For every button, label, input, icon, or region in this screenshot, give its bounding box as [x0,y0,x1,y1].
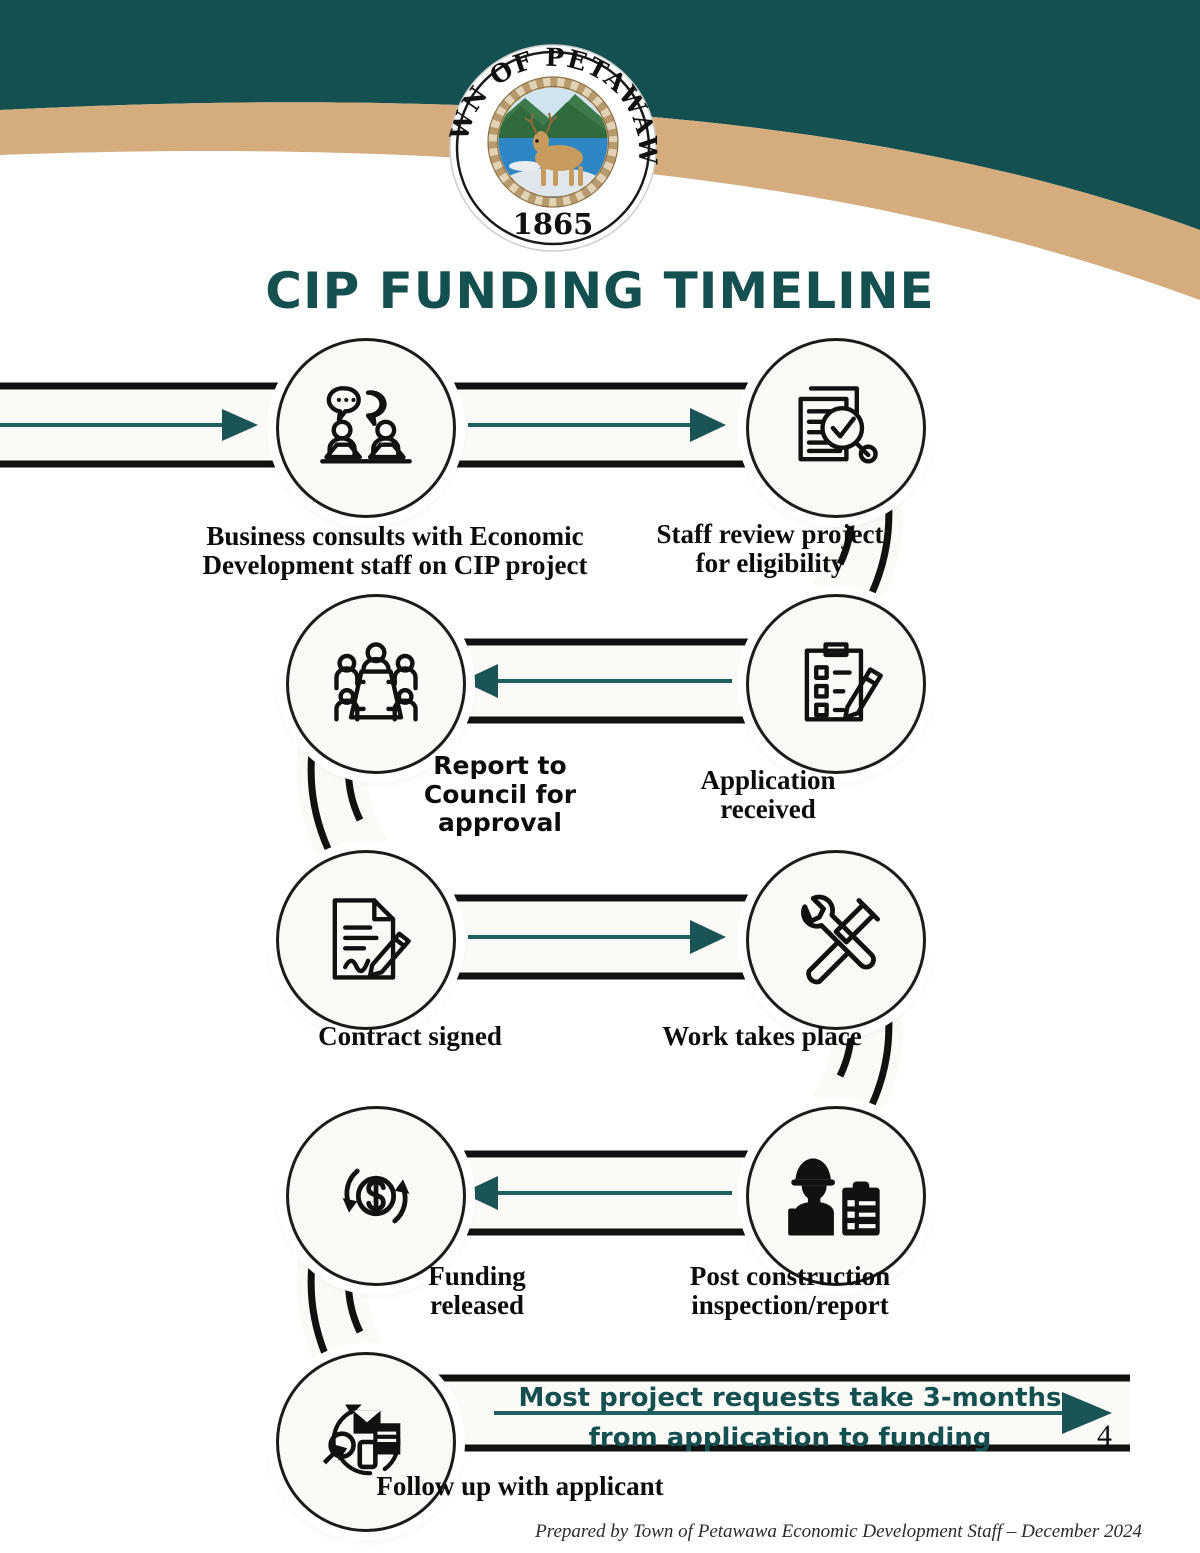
step-node-inspection[interactable] [746,1106,926,1286]
step-label-review: Staff review project for eligibility [620,520,920,578]
step-label-work: Work takes place [602,1022,922,1051]
step-label-contract: Contract signed [250,1022,570,1051]
money-cycle-icon [324,1144,428,1248]
step-label-inspection: Post construction inspection/report [640,1262,940,1320]
step-label-funding: Funding released [362,1262,592,1320]
step-node-application[interactable] [746,594,926,774]
infographic-page: TOWN OF PETAWAWA [0,0,1200,1553]
page-number: 4 [1097,1419,1112,1453]
step-node-contract[interactable] [276,850,456,1030]
document-magnifier-check-icon [784,376,888,480]
inspector-clipboard-icon [784,1144,888,1248]
signed-document-pen-icon [314,888,418,992]
hammer-wrench-icon [784,888,888,992]
step-node-consult[interactable] [276,338,456,518]
step-node-followup[interactable] [276,1352,456,1532]
step-node-review[interactable] [746,338,926,518]
clipboard-pencil-icon [784,632,888,736]
step-label-consult: Business consults with Economic Developm… [150,522,640,580]
step-node-council[interactable] [286,594,466,774]
step-label-council: Report to Council for approval [378,752,622,838]
step-label-followup: Follow up with applicant [300,1472,740,1501]
council-meeting-table-icon [324,632,428,736]
step-label-application: Application received [648,766,888,824]
step-node-work[interactable] [746,850,926,1030]
people-chat-icon [314,376,418,480]
duration-note: Most project requests take 3-months from… [480,1378,1100,1459]
step-node-funding[interactable] [286,1106,466,1286]
footer-credit: Prepared by Town of Petawawa Economic De… [535,1521,1142,1543]
